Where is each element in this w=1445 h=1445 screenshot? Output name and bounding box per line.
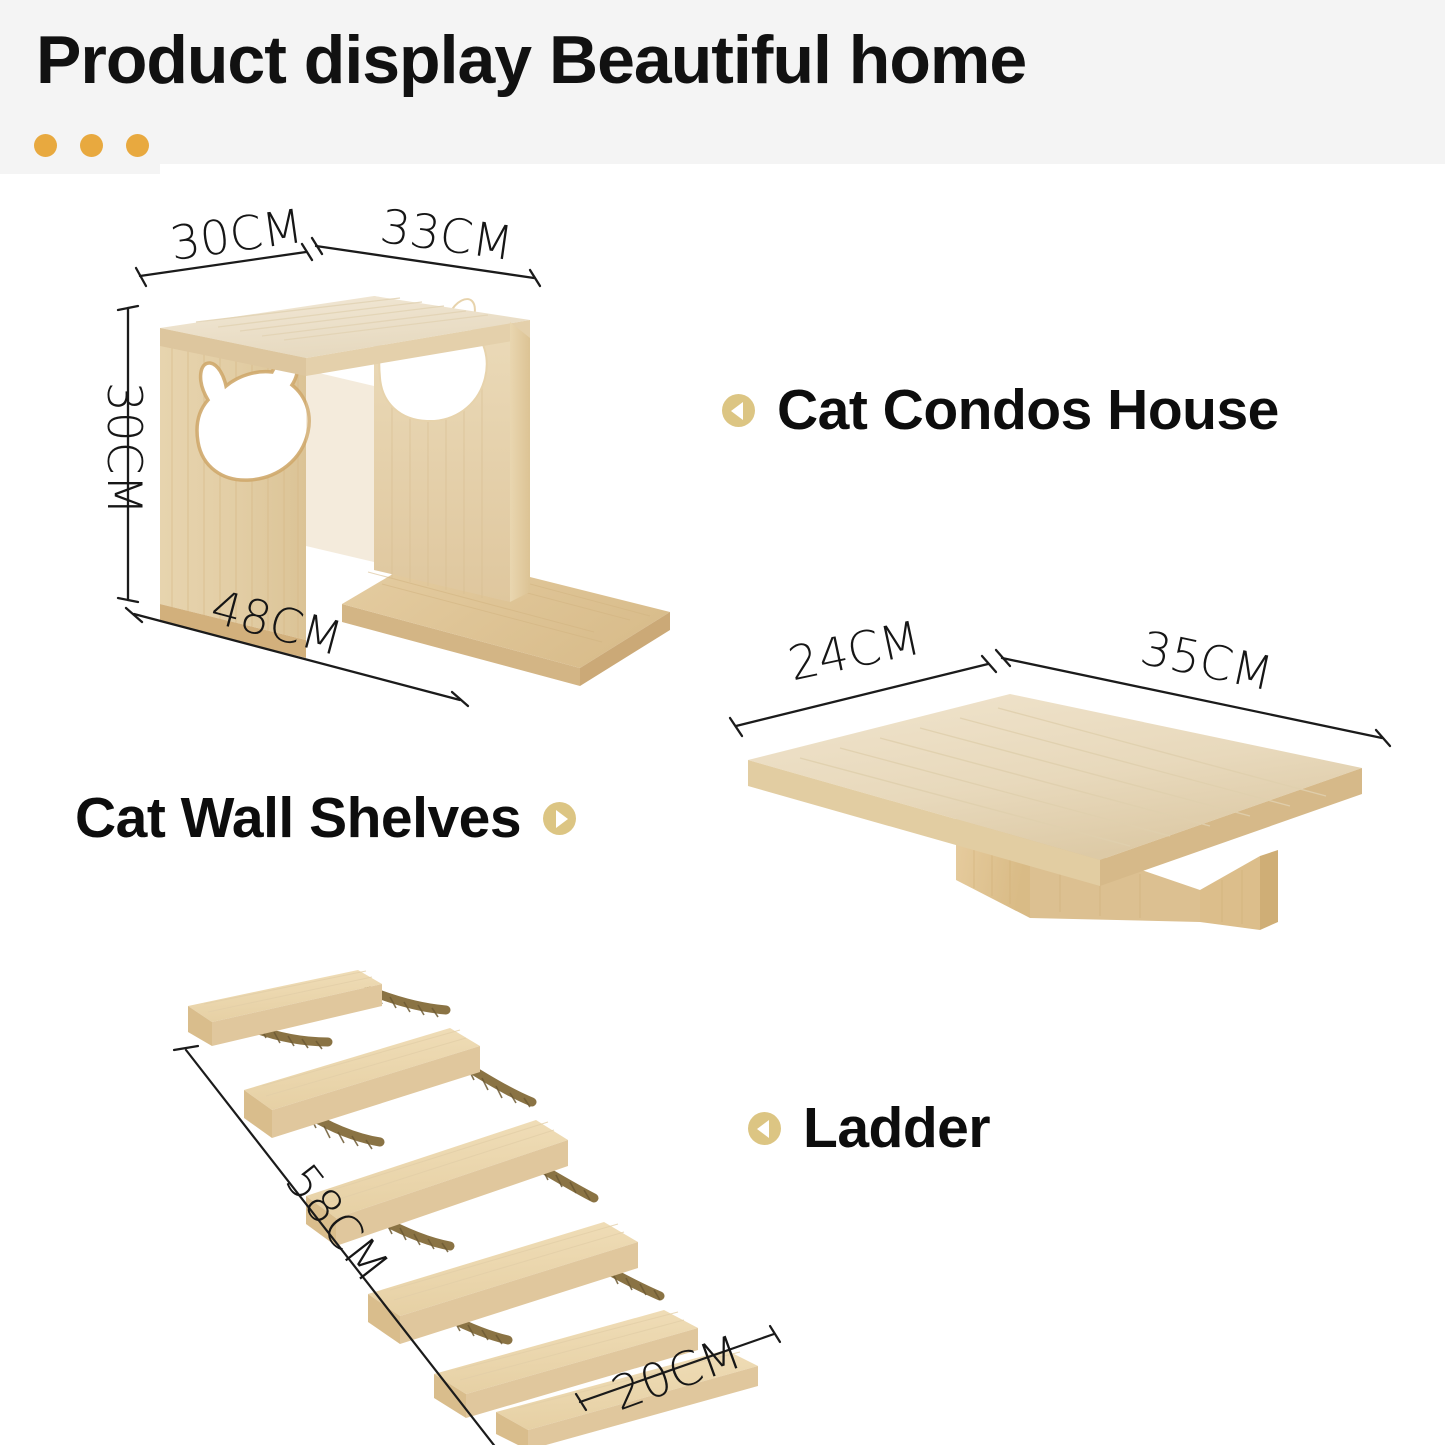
dot-2 <box>80 134 103 157</box>
product-label-text: Ladder <box>803 1100 990 1157</box>
cat-shelf-svg <box>730 650 1390 940</box>
product-label-cat-wall-shelves[interactable]: Cat Wall Shelves <box>75 790 576 847</box>
product-label-text: Cat Wall Shelves <box>75 790 521 847</box>
ladder-illustration: 58CM 20CM <box>160 950 800 1430</box>
header-dots <box>34 134 149 157</box>
dot-3 <box>126 134 149 157</box>
page-title: Product display Beautiful home <box>36 26 1026 94</box>
triangle-right-icon <box>543 802 576 835</box>
ladder-plank-4 <box>368 1222 638 1344</box>
dot-1 <box>34 134 57 157</box>
product-label-text: Cat Condos House <box>777 382 1279 439</box>
triangle-left-icon <box>722 394 755 427</box>
product-label-ladder[interactable]: Ladder <box>748 1100 990 1157</box>
cat-wall-shelves-illustration: 24CM 35CM <box>730 650 1390 940</box>
ladder-plank-2 <box>244 1028 480 1138</box>
triangle-left-icon <box>748 1112 781 1145</box>
product-label-cat-condos-house[interactable]: Cat Condos House <box>722 382 1279 439</box>
dim-house-height: 30CM <box>100 382 147 515</box>
house-interior <box>306 370 374 562</box>
cat-house-svg <box>110 200 670 700</box>
product-display-page: Product display Beautiful home <box>0 0 1445 1445</box>
cat-condos-house-illustration: 30CM 33CM 30CM 48CM <box>110 200 670 700</box>
header-white-step <box>160 164 1445 176</box>
house-side-edge <box>510 322 530 602</box>
